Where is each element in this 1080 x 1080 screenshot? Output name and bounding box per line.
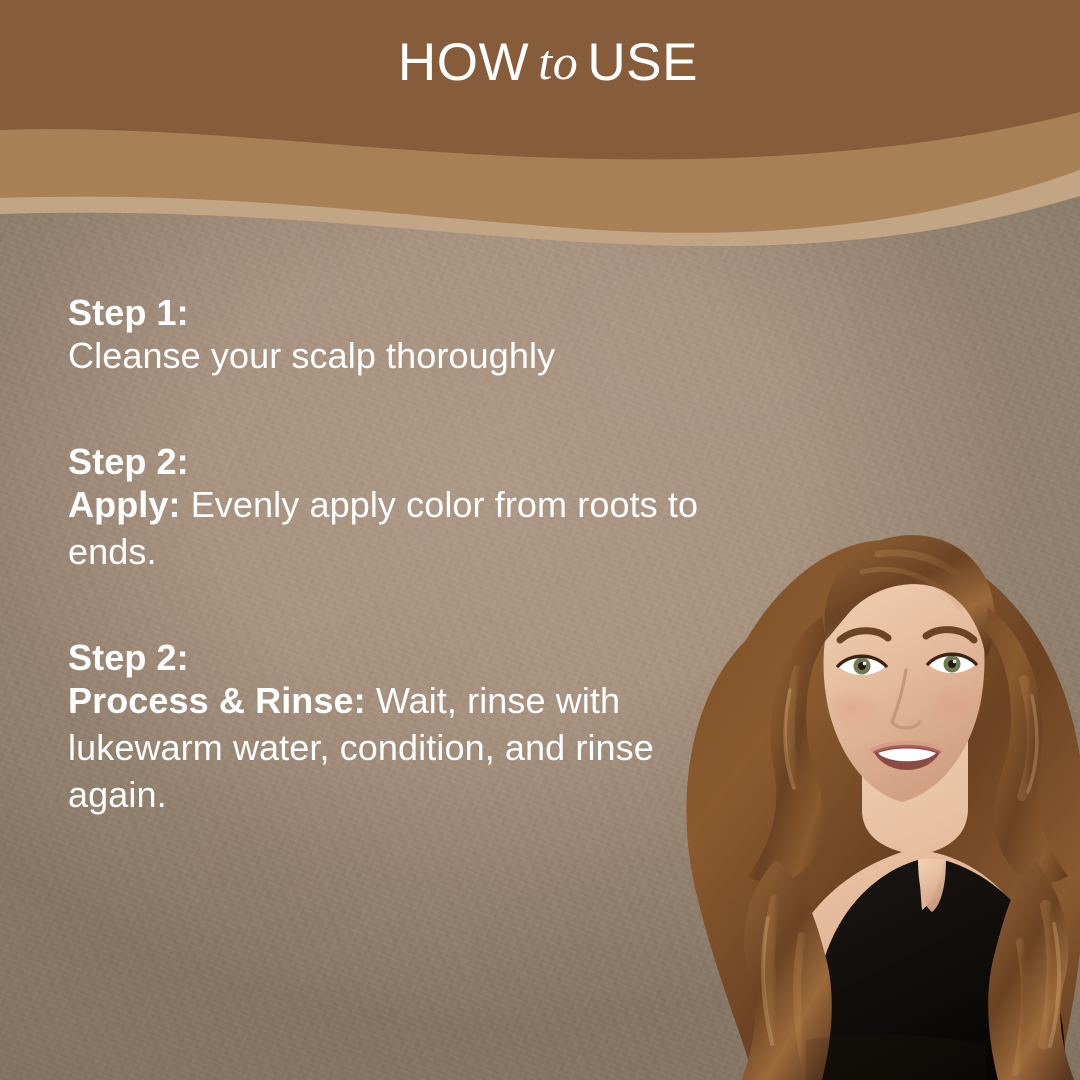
- page-title: HOW to USE: [0, 0, 1080, 124]
- step-item-1: Step 1: Cleanse your scalp thoroughly: [68, 293, 728, 380]
- step-2-text: Apply: Evenly apply color from roots to …: [68, 482, 728, 576]
- title-word-to: to: [529, 33, 587, 91]
- title-word-how: HOW: [398, 32, 529, 93]
- step-3-text: Process & Rinse: Wait, rinse with lukewa…: [68, 678, 728, 818]
- step-2-label: Step 2:: [68, 442, 728, 482]
- step-1-label: Step 1:: [68, 293, 728, 333]
- step-1-body-text: Cleanse your scalp thoroughly: [68, 335, 555, 376]
- step-item-2: Step 2: Apply: Evenly apply color from r…: [68, 442, 728, 576]
- step-1-text: Cleanse your scalp thoroughly: [68, 333, 728, 380]
- step-3-label: Step 2:: [68, 638, 728, 678]
- steps-list: Step 1: Cleanse your scalp thoroughly St…: [68, 293, 728, 819]
- step-2-lead: Apply:: [68, 484, 181, 525]
- step-3-lead: Process & Rinse:: [68, 680, 366, 721]
- step-item-3: Step 2: Process & Rinse: Wait, rinse wit…: [68, 638, 728, 819]
- title-word-use: USE: [587, 32, 698, 93]
- how-to-use-poster: HOW to USE Step 1: Cleanse your scalp th…: [0, 0, 1080, 1080]
